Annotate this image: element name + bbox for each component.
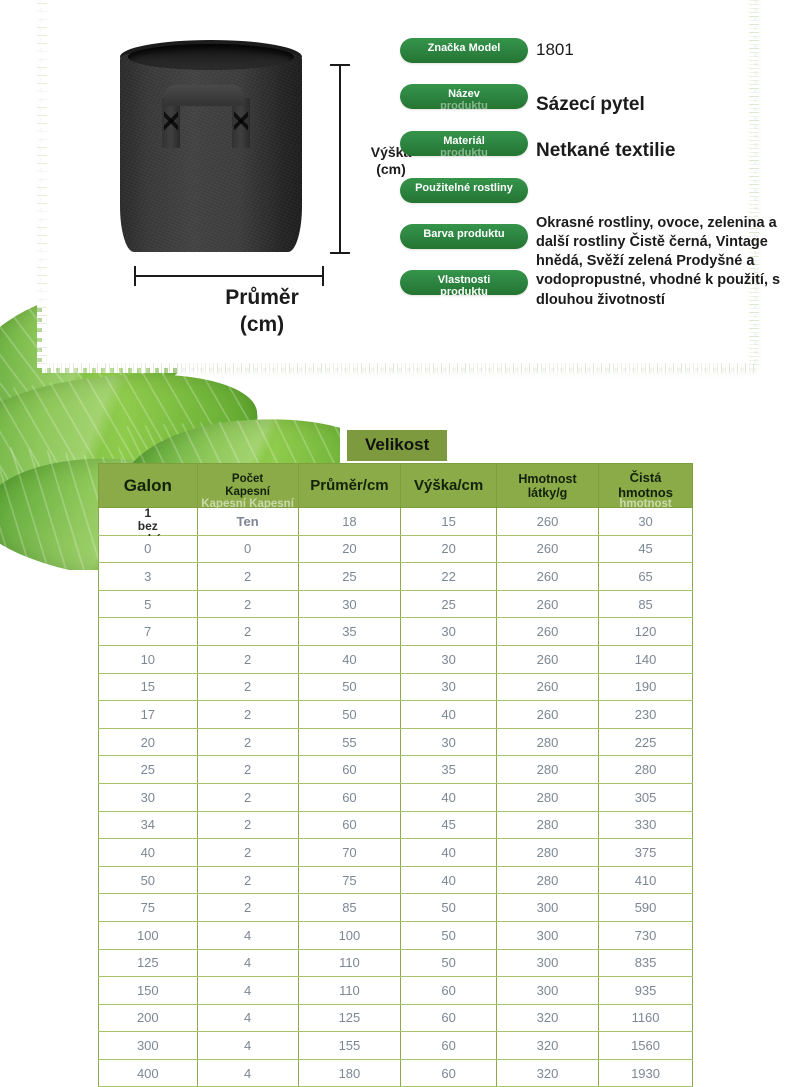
cell-pocket-count: 2 (197, 590, 298, 618)
cell-height: 50 (401, 921, 497, 949)
product-image-grow-bag: Výška (cm) Průměr (cm) (92, 32, 332, 282)
column-header-pocket-text: Počet Kapesní (225, 473, 270, 498)
cell-pocket-count: 4 (197, 949, 298, 977)
cell-diameter: 125 (298, 1004, 401, 1032)
cell-pocket-count: 2 (197, 673, 298, 701)
cell-height: 30 (401, 645, 497, 673)
cell-pocket-count: 4 (197, 1032, 298, 1060)
cell-gallon: 25 (99, 756, 198, 784)
cell-gallon: 15 (99, 673, 198, 701)
spec-label-features: Vlastnosti produktu (400, 270, 528, 295)
cell-pocket-count: 2 (197, 811, 298, 839)
cell-height: 50 (401, 894, 497, 922)
cell-pocket-count: 2 (197, 783, 298, 811)
cell-pocket-count: 2 (197, 645, 298, 673)
cell-net-weight: 120 (599, 618, 693, 646)
table-row: 723530260120 (99, 618, 693, 646)
cell-diameter: 60 (298, 783, 401, 811)
cell-gallon: 400 (99, 1059, 198, 1087)
cell-height: 45 (401, 811, 497, 839)
spec-value-product-name: Sázecí pytel (536, 94, 645, 116)
spec-label-usable-plants: Použitelné rostliny (400, 178, 528, 203)
cell-net-weight: 1930 (599, 1059, 693, 1087)
cell-diameter: 55 (298, 728, 401, 756)
cell-pocket-count: 2 (197, 728, 298, 756)
cell-diameter: 85 (298, 894, 401, 922)
table-row: 00202026045 (99, 535, 693, 563)
cell-diameter: 180 (298, 1059, 401, 1087)
cell-net-weight: 375 (599, 839, 693, 867)
table-header-row: Galon Počet Kapesní Kapesní Kapesní Prům… (99, 464, 693, 508)
cell-pocket-count: 2 (197, 866, 298, 894)
cell-diameter: 30 (298, 590, 401, 618)
cell-gallon: 200 (99, 1004, 198, 1032)
cell-gallon: 7 (99, 618, 198, 646)
cell-gallon: 20 (99, 728, 198, 756)
spec-label-product-name-overflow: produktu (406, 100, 522, 112)
cell-fabric-weight: 260 (496, 590, 598, 618)
table-row: 5027540280410 (99, 866, 693, 894)
cell-height: 22 (401, 563, 497, 591)
size-section-banner: Velikost (347, 430, 447, 461)
cell-gallon: 100 (99, 921, 198, 949)
table-row: 3026040280305 (99, 783, 693, 811)
cell-pocket-count: 2 (197, 839, 298, 867)
felt-texture (120, 54, 302, 252)
cell-gallon: 34 (99, 811, 198, 839)
cell-height: 30 (401, 728, 497, 756)
table-row: 4004180603201930 (99, 1059, 693, 1087)
cell-diameter: 70 (298, 839, 401, 867)
cell-gallon: 3 (99, 563, 198, 591)
column-header-net-weight: Čistá hmotnos hmotnost (599, 464, 693, 508)
table-row: 1725040260230 (99, 701, 693, 729)
table-row: 4027040280375 (99, 839, 693, 867)
cell-fabric-weight: 280 (496, 728, 598, 756)
cell-net-weight: 280 (599, 756, 693, 784)
table-row: 1bez ucháTen181526030 (99, 508, 693, 536)
cell-fabric-weight: 300 (496, 921, 598, 949)
spec-label-material-overflow: produktu (406, 147, 522, 159)
column-header-fabric-weight: Hmotnost látky/g (496, 464, 598, 508)
cell-diameter: 50 (298, 701, 401, 729)
cell-height: 20 (401, 535, 497, 563)
cell-pocket-count: 4 (197, 921, 298, 949)
bag-rim-inner (128, 44, 294, 70)
cell-fabric-weight: 260 (496, 508, 598, 536)
cell-gallon: 300 (99, 1032, 198, 1060)
diameter-dimension-arrow (134, 275, 324, 277)
cell-diameter: 110 (298, 949, 401, 977)
cell-height: 30 (401, 618, 497, 646)
cell-net-weight: 140 (599, 645, 693, 673)
cell-fabric-weight: 260 (496, 673, 598, 701)
cell-pocket-count: 2 (197, 701, 298, 729)
cell-gallon: 40 (99, 839, 198, 867)
cell-pocket-count: 2 (197, 894, 298, 922)
cell-gallon: 150 (99, 977, 198, 1005)
cell-height: 40 (401, 783, 497, 811)
cell-gallon-value: 1 (99, 506, 197, 520)
cell-height: 15 (401, 508, 497, 536)
cell-height: 30 (401, 673, 497, 701)
cell-height: 40 (401, 839, 497, 867)
cell-gallon: 1bez uchá (99, 508, 198, 536)
cell-height: 40 (401, 866, 497, 894)
cell-pocket-count: 0 (197, 535, 298, 563)
cell-fabric-weight: 280 (496, 811, 598, 839)
cell-gallon: 125 (99, 949, 198, 977)
cell-gallon: 50 (99, 866, 198, 894)
cell-height: 40 (401, 701, 497, 729)
cell-diameter: 35 (298, 618, 401, 646)
cell-fabric-weight: 280 (496, 866, 598, 894)
table-row: 2004125603201160 (99, 1004, 693, 1032)
column-header-gallon: Galon (99, 464, 198, 508)
spec-value-description: Okrasné rostliny, ovoce, zelenina a dalš… (536, 214, 790, 310)
spec-label-color: Barva produktu (400, 224, 528, 249)
cell-diameter: 60 (298, 756, 401, 784)
cell-gallon: 10 (99, 645, 198, 673)
specification-list: Značka Model Názevproduktu Materiálprodu… (360, 32, 780, 322)
table-row: 100410050300730 (99, 921, 693, 949)
cell-fabric-weight: 300 (496, 949, 598, 977)
column-header-pocket-count: Počet Kapesní Kapesní Kapesní (197, 464, 298, 508)
table-row: 2025530280225 (99, 728, 693, 756)
cell-diameter: 40 (298, 645, 401, 673)
cell-net-weight: 410 (599, 866, 693, 894)
table-row: 1024030260140 (99, 645, 693, 673)
table-row: 3426045280330 (99, 811, 693, 839)
cell-fabric-weight: 260 (496, 645, 598, 673)
spec-value-material: Netkané textilie (536, 140, 675, 162)
cell-gallon: 17 (99, 701, 198, 729)
height-dimension-arrow (339, 64, 341, 254)
table-row: 52302526085 (99, 590, 693, 618)
cell-fabric-weight: 320 (496, 1059, 598, 1087)
cell-fabric-weight: 300 (496, 977, 598, 1005)
table-body: 1bez ucháTen1815260300020202604532252226… (99, 508, 693, 1087)
cell-net-weight: 230 (599, 701, 693, 729)
cell-height: 60 (401, 1004, 497, 1032)
cell-fabric-weight: 320 (496, 1004, 598, 1032)
table-header: Galon Počet Kapesní Kapesní Kapesní Prům… (99, 464, 693, 508)
cell-diameter: 60 (298, 811, 401, 839)
cell-fabric-weight: 320 (496, 1032, 598, 1060)
cell-net-weight: 835 (599, 949, 693, 977)
diameter-dimension-label: Průměr (cm) (172, 284, 352, 339)
cell-gallon: 5 (99, 590, 198, 618)
cell-diameter: 100 (298, 921, 401, 949)
cell-diameter: 50 (298, 673, 401, 701)
cell-net-weight: 935 (599, 977, 693, 1005)
cell-net-weight: 330 (599, 811, 693, 839)
cell-fabric-weight: 280 (496, 783, 598, 811)
cell-net-weight: 1560 (599, 1032, 693, 1060)
table-row: 150411060300935 (99, 977, 693, 1005)
product-info-card: Výška (cm) Průměr (cm) Značka Model Náze… (42, 0, 754, 368)
table-row: 3004155603201560 (99, 1032, 693, 1060)
cell-pocket-count: 2 (197, 756, 298, 784)
spec-label-material: Materiálproduktu (400, 131, 528, 156)
diameter-label-line2: (cm) (172, 311, 352, 338)
cell-pocket-count: 2 (197, 563, 298, 591)
bag-handle (163, 85, 245, 106)
table-row: 2526035280280 (99, 756, 693, 784)
cell-diameter: 20 (298, 535, 401, 563)
size-specification-table: Galon Počet Kapesní Kapesní Kapesní Prům… (98, 463, 693, 1087)
cell-gallon: 30 (99, 783, 198, 811)
diameter-label-line1: Průměr (172, 284, 352, 311)
spec-value-brand-model: 1801 (536, 40, 574, 60)
cell-net-weight: 65 (599, 563, 693, 591)
cell-net-weight: 85 (599, 590, 693, 618)
cell-net-weight: 305 (599, 783, 693, 811)
cell-pocket-count: 4 (197, 1004, 298, 1032)
table-row: 7528550300590 (99, 894, 693, 922)
cell-height: 60 (401, 977, 497, 1005)
cell-net-weight: 1160 (599, 1004, 693, 1032)
cell-gallon: 75 (99, 894, 198, 922)
cell-net-weight: 30 (599, 508, 693, 536)
cell-pocket-count: 2 (197, 618, 298, 646)
column-header-height: Výška/cm (401, 464, 497, 508)
cell-net-weight: 590 (599, 894, 693, 922)
cell-net-weight: 225 (599, 728, 693, 756)
cell-diameter: 25 (298, 563, 401, 591)
cell-net-weight: 45 (599, 535, 693, 563)
cell-height: 25 (401, 590, 497, 618)
spec-label-product-name: Názevproduktu (400, 84, 528, 109)
table-row: 125411050300835 (99, 949, 693, 977)
cell-gallon: 0 (99, 535, 198, 563)
cell-fabric-weight: 280 (496, 756, 598, 784)
cell-net-weight: 190 (599, 673, 693, 701)
bag-body (120, 54, 302, 252)
cell-diameter: 110 (298, 977, 401, 1005)
cell-diameter: 75 (298, 866, 401, 894)
cell-height: 35 (401, 756, 497, 784)
cell-fabric-weight: 280 (496, 839, 598, 867)
spec-label-brand-model: Značka Model (400, 38, 528, 63)
cell-pocket-count: Ten (197, 508, 298, 536)
cell-height: 60 (401, 1032, 497, 1060)
cell-fabric-weight: 260 (496, 535, 598, 563)
cell-pocket-count: 4 (197, 977, 298, 1005)
column-header-diameter: Průměr/cm (298, 464, 401, 508)
cell-diameter: 155 (298, 1032, 401, 1060)
cell-diameter: 18 (298, 508, 401, 536)
cell-fabric-weight: 300 (496, 894, 598, 922)
size-table-container: Galon Počet Kapesní Kapesní Kapesní Prům… (98, 463, 693, 1087)
table-row: 32252226065 (99, 563, 693, 591)
cell-net-weight: 730 (599, 921, 693, 949)
cell-pocket-count: 4 (197, 1059, 298, 1087)
cell-height: 60 (401, 1059, 497, 1087)
table-row: 1525030260190 (99, 673, 693, 701)
cell-fabric-weight: 260 (496, 701, 598, 729)
cell-height: 50 (401, 949, 497, 977)
cell-fabric-weight: 260 (496, 563, 598, 591)
cell-fabric-weight: 260 (496, 618, 598, 646)
column-header-net-weight-text: Čistá hmotnos (618, 470, 673, 500)
